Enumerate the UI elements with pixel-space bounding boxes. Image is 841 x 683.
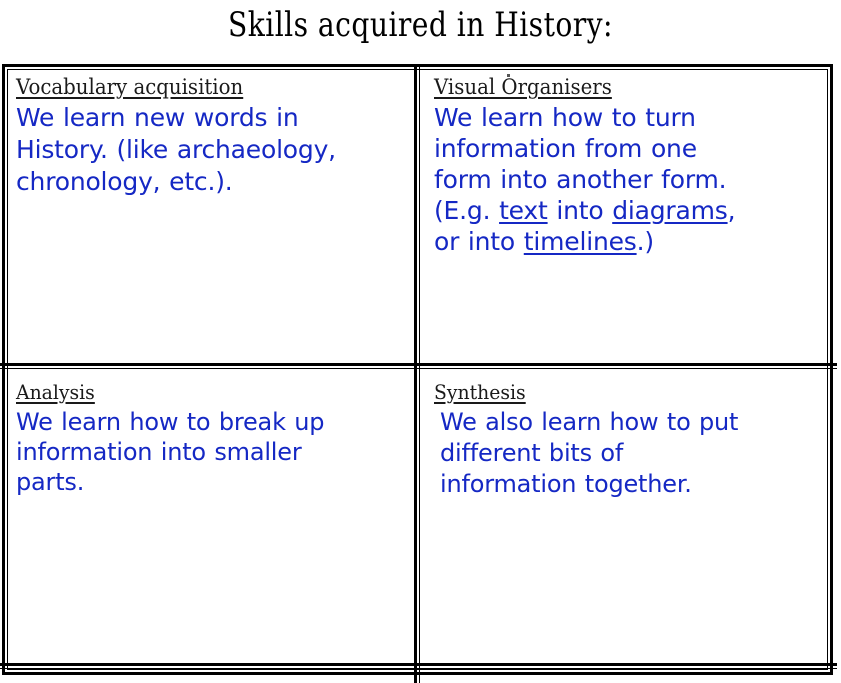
- cell-heading-visual-organisers: Visual Organisers: [434, 74, 612, 100]
- table-cell-visual-organisers[interactable]: Visual Organisers We learn how to turn i…: [420, 64, 833, 369]
- table-cell-synthesis[interactable]: Synthesis We also learn how to put diffe…: [420, 369, 833, 669]
- table-row: Vocabulary acquisition We learn new word…: [2, 64, 833, 369]
- body-line: We learn how to turn: [434, 102, 821, 133]
- cell-body-vocabulary: We learn new words in History. (like arc…: [16, 102, 408, 198]
- skills-table: Vocabulary acquisition We learn new word…: [2, 64, 833, 675]
- body-line: information from one: [434, 133, 821, 164]
- body-line: We also learn how to put: [440, 407, 821, 438]
- table-row-partial: [2, 669, 833, 683]
- body-line: chronology, etc.).: [16, 166, 408, 198]
- cell-heading-analysis: Analysis: [16, 379, 95, 405]
- page-title: Skills acquired in History:: [34, 0, 808, 48]
- table-cell-partial-left[interactable]: [2, 669, 420, 683]
- body-line: information into smaller: [16, 437, 408, 467]
- body-line: different bits of: [440, 438, 821, 469]
- cell-heading-synthesis: Synthesis: [434, 379, 526, 405]
- cell-body-analysis: We learn how to break up information int…: [16, 407, 408, 497]
- underlined-keyword: diagrams: [612, 196, 727, 225]
- underlined-keyword: text: [499, 196, 548, 225]
- cell-heading-vocabulary: Vocabulary acquisition: [16, 74, 243, 100]
- body-line: We learn how to break up: [16, 407, 408, 437]
- cell-body-synthesis: We also learn how to put different bits …: [434, 407, 821, 500]
- cell-body-visual-organisers: We learn how to turn information from on…: [434, 102, 821, 257]
- body-line: History. (like archaeology,: [16, 134, 408, 166]
- body-line: We learn new words in: [16, 102, 408, 134]
- underlined-keyword: timelines: [524, 227, 637, 256]
- body-line: parts.: [16, 467, 408, 497]
- table-cell-partial-right[interactable]: [420, 669, 833, 683]
- table-cell-analysis[interactable]: Analysis We learn how to break up inform…: [2, 369, 420, 669]
- body-line-with-underlines: or into timelines.): [434, 226, 821, 257]
- table-cell-vocabulary[interactable]: Vocabulary acquisition We learn new word…: [2, 64, 420, 369]
- body-line: information together.: [440, 469, 821, 500]
- body-line: form into another form.: [434, 164, 821, 195]
- body-line-with-underlines: (E.g. text into diagrams,: [434, 195, 821, 226]
- table-row: Analysis We learn how to break up inform…: [2, 369, 833, 669]
